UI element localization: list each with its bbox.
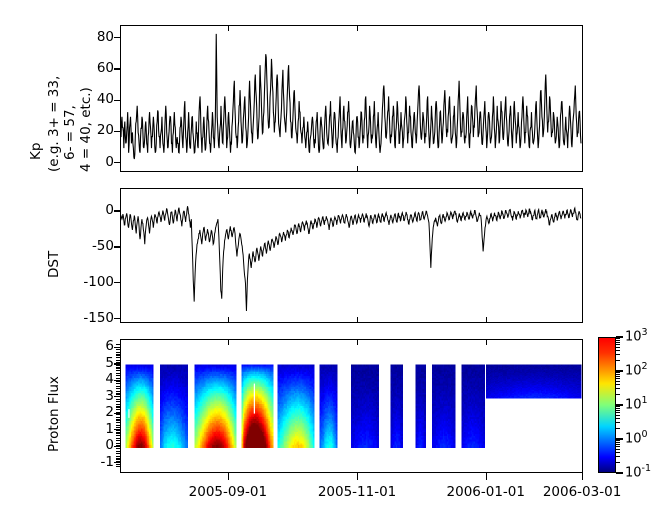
axis-tick — [616, 347, 620, 348]
axis-tick — [116, 344, 120, 345]
axis-tick — [616, 360, 620, 361]
figure-canvas: 020406080 Kp (e.g. 3+ = 33, 6- = 57, 4 =… — [0, 0, 665, 523]
axis-tick — [116, 464, 120, 465]
dst-line — [121, 206, 581, 311]
axis-tick — [582, 25, 583, 31]
axis-tick — [116, 412, 120, 413]
axis-tick — [616, 376, 620, 377]
kp-line — [121, 34, 581, 159]
colorbar-tick-label: 101 — [625, 395, 648, 412]
axis-tick — [616, 394, 620, 395]
flux-segment — [391, 365, 403, 448]
axis-tick — [582, 339, 583, 345]
axis-tick — [116, 373, 120, 374]
flux-ytick-label: 2 — [74, 404, 114, 420]
flux-ytick-label: 3 — [74, 388, 114, 404]
axis-tick — [116, 448, 120, 449]
axis-tick — [357, 25, 358, 31]
axis-tick — [116, 458, 120, 459]
axis-tick — [616, 408, 620, 409]
axis-tick — [116, 445, 120, 446]
axis-tick — [116, 435, 120, 436]
axis-tick — [116, 386, 120, 387]
axis-tick — [616, 344, 620, 345]
kp-ylabel-line-3: 4 = 40, etc.) — [78, 87, 94, 172]
kp-ytick-label: 60 — [72, 60, 114, 76]
axis-tick — [616, 449, 620, 450]
kp-panel — [120, 25, 583, 172]
axis-tick — [116, 388, 120, 389]
axis-tick — [116, 427, 120, 428]
dst-ytick-label: -50 — [68, 238, 114, 254]
axis-tick — [114, 68, 120, 69]
axis-tick — [114, 246, 120, 247]
axis-tick — [114, 100, 120, 101]
axis-tick — [582, 473, 583, 480]
flux-ytick-label: -1 — [74, 454, 114, 470]
axis-tick — [116, 406, 120, 407]
axis-tick — [616, 452, 620, 453]
axis-tick — [357, 473, 358, 480]
axis-tick — [116, 461, 120, 462]
axis-tick — [486, 166, 487, 172]
flux-ytick-label: 1 — [74, 421, 114, 437]
axis-tick — [616, 338, 620, 339]
flux-segment — [195, 365, 237, 448]
axis-tick — [616, 446, 620, 447]
axis-tick — [228, 317, 229, 323]
axis-tick — [116, 453, 120, 454]
axis-tick — [616, 444, 620, 445]
axis-tick — [616, 410, 620, 411]
axis-tick — [616, 456, 620, 457]
axis-tick — [616, 440, 620, 441]
axis-tick — [357, 339, 358, 345]
axis-tick — [116, 425, 120, 426]
axis-tick — [616, 412, 620, 413]
axis-tick — [116, 360, 120, 361]
flux-segment — [486, 365, 582, 399]
axis-tick — [116, 432, 120, 433]
axis-tick — [616, 418, 620, 419]
axis-tick — [116, 370, 120, 371]
flux-segment — [432, 365, 455, 448]
axis-tick — [116, 438, 120, 439]
kp-ylabel-line-2: 6- = 57, — [62, 105, 78, 160]
axis-tick — [486, 339, 487, 345]
dst-ytick-label: 0 — [68, 202, 114, 218]
axis-tick — [116, 362, 120, 363]
axis-tick — [228, 166, 229, 172]
axis-tick — [616, 384, 620, 385]
axis-tick — [116, 393, 120, 394]
axis-tick — [116, 352, 120, 353]
axis-tick — [486, 25, 487, 31]
flux-ytick-label: 4 — [74, 371, 114, 387]
proton-flux-heatmap — [121, 340, 581, 471]
axis-tick — [616, 415, 620, 416]
axis-tick — [116, 347, 120, 348]
axis-tick — [114, 210, 120, 211]
axis-tick — [116, 401, 120, 402]
axis-tick — [114, 162, 120, 163]
axis-tick — [116, 354, 120, 355]
axis-tick — [116, 466, 120, 467]
proton-flux-y-axis-title: Proton Flux — [46, 376, 62, 452]
axis-tick — [116, 440, 120, 441]
axis-tick — [616, 428, 620, 429]
colorbar-tick-label: 10-1 — [625, 463, 651, 480]
axis-tick — [582, 317, 583, 323]
axis-tick — [357, 188, 358, 194]
axis-tick — [116, 417, 120, 418]
axis-tick — [616, 354, 620, 355]
flux-ytick-label: 0 — [74, 437, 114, 453]
x-axis-tick-label: 2005-11-01 — [297, 484, 417, 500]
axis-tick — [116, 419, 120, 420]
axis-tick — [616, 381, 620, 382]
axis-tick — [114, 131, 120, 132]
axis-tick — [116, 367, 120, 368]
axis-tick — [114, 282, 120, 283]
flux-segment — [277, 365, 314, 448]
axis-tick — [616, 388, 620, 389]
dst-series-plot — [121, 189, 581, 321]
colorbar-tick-label: 103 — [625, 327, 648, 344]
axis-tick — [116, 399, 120, 400]
proton-flux-panel — [120, 339, 583, 473]
axis-tick — [616, 340, 620, 341]
axis-tick — [228, 339, 229, 345]
axis-tick — [616, 372, 620, 373]
axis-tick — [116, 456, 120, 457]
axis-tick — [616, 462, 620, 463]
dst-panel — [120, 188, 583, 323]
axis-tick — [582, 188, 583, 194]
axis-tick — [116, 409, 120, 410]
axis-tick — [116, 391, 120, 392]
flux-segment — [461, 365, 484, 448]
kp-ylabel-line-0: Kp — [28, 143, 44, 160]
axis-tick — [114, 37, 120, 38]
axis-tick — [116, 422, 120, 423]
kp-series-plot — [121, 26, 581, 170]
flux-segment — [415, 365, 426, 448]
axis-tick — [116, 375, 120, 376]
axis-tick — [228, 473, 229, 480]
axis-tick — [228, 25, 229, 31]
axis-tick — [116, 430, 120, 431]
axis-tick — [116, 414, 120, 415]
axis-tick — [486, 473, 487, 480]
flux-segment — [351, 365, 379, 448]
axis-tick — [116, 451, 120, 452]
flux-segment — [320, 365, 338, 448]
axis-tick — [357, 166, 358, 172]
flux-ytick-label: 5 — [74, 355, 114, 371]
axis-tick — [486, 188, 487, 194]
flux-ytick-label: 6 — [74, 338, 114, 354]
axis-tick — [116, 396, 120, 397]
axis-tick — [116, 365, 120, 366]
axis-tick — [116, 357, 120, 358]
dst-ytick-label: -100 — [68, 274, 114, 290]
flux-segment — [160, 365, 188, 448]
x-axis-tick-label: 2006-03-01 — [522, 484, 642, 500]
axis-tick — [616, 406, 620, 407]
axis-tick — [616, 422, 620, 423]
dst-ytick-label: -150 — [68, 310, 114, 326]
axis-tick — [116, 380, 120, 381]
colorbar-tick-label: 100 — [625, 429, 648, 446]
axis-tick — [616, 374, 620, 375]
colorbar — [598, 337, 616, 473]
axis-tick — [616, 342, 620, 343]
axis-tick — [116, 349, 120, 350]
x-axis-tick-label: 2005-09-01 — [168, 484, 288, 500]
axis-tick — [486, 317, 487, 323]
dst-y-axis-title: DST — [46, 251, 62, 278]
axis-tick — [114, 318, 120, 319]
axis-tick — [357, 317, 358, 323]
axis-tick — [616, 350, 620, 351]
axis-tick — [116, 378, 120, 379]
axis-tick — [616, 378, 620, 379]
axis-tick — [116, 443, 120, 444]
flux-segment — [126, 365, 154, 448]
axis-tick — [116, 383, 120, 384]
kp-ytick-label: 80 — [72, 29, 114, 45]
axis-tick — [116, 404, 120, 405]
axis-tick — [228, 188, 229, 194]
axis-tick — [616, 442, 620, 443]
colorbar-tick-label: 102 — [625, 361, 648, 378]
kp-ylabel-line-1: (e.g. 3+ = 33, — [46, 76, 62, 172]
colorbar-gradient — [599, 338, 615, 472]
axis-tick — [582, 166, 583, 172]
flux-segment — [242, 365, 274, 448]
axis-tick — [616, 472, 623, 473]
